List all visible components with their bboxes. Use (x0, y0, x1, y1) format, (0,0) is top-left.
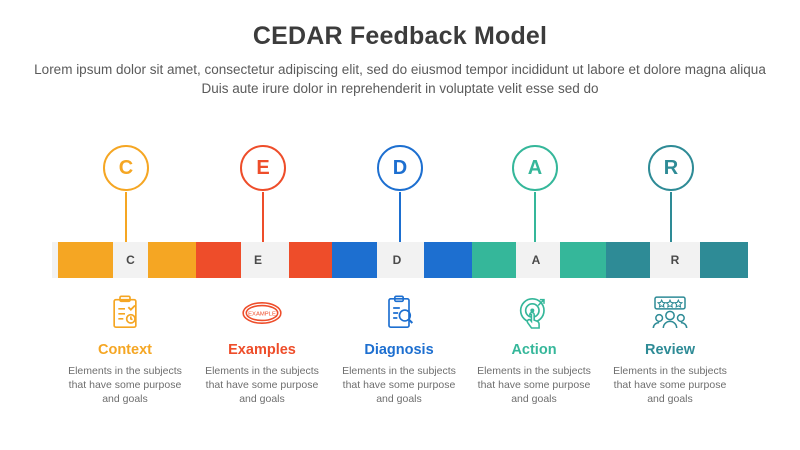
target-click-icon (461, 290, 607, 336)
example-stamp-icon: EXAMPLE (189, 290, 335, 336)
segment-letter-diagnosis: D (377, 242, 417, 278)
step-label-action: Action (461, 342, 607, 358)
segment-action-b (560, 242, 606, 278)
stem-context (125, 192, 127, 242)
step-column-diagnosis: Diagnosis Elements in the subjects that … (326, 290, 472, 406)
segment-review-b (700, 242, 748, 278)
segment-examples-a (196, 242, 241, 278)
node-circle-diagnosis[interactable]: D (377, 145, 423, 191)
step-description-action: Elements in the subjects that have some … (461, 364, 607, 406)
svg-text:EXAMPLE: EXAMPLE (248, 311, 276, 317)
segment-action-a (472, 242, 516, 278)
step-column-examples: EXAMPLE Examples Elements in the subject… (189, 290, 335, 406)
node-circle-action[interactable]: A (512, 145, 558, 191)
step-description-diagnosis: Elements in the subjects that have some … (326, 364, 472, 406)
stem-diagnosis (399, 192, 401, 242)
segment-diagnosis-a (332, 242, 377, 278)
step-description-review: Elements in the subjects that have some … (597, 364, 743, 406)
step-label-context: Context (52, 342, 198, 358)
segment-letter-examples: E (241, 242, 275, 278)
node-circle-context[interactable]: C (103, 145, 149, 191)
node-letter-action: A (528, 157, 542, 179)
segment-context-b (148, 242, 196, 278)
node-circle-examples[interactable]: E (240, 145, 286, 191)
stem-review (670, 192, 672, 242)
step-label-review: Review (597, 342, 743, 358)
node-circle-review[interactable]: R (648, 145, 694, 191)
step-description-examples: Elements in the subjects that have some … (189, 364, 335, 406)
segment-diagnosis-b (424, 242, 472, 278)
step-description-context: Elements in the subjects that have some … (52, 364, 198, 406)
segment-letter-review: R (650, 242, 700, 278)
segment-letter-action: A (516, 242, 556, 278)
page-title: CEDAR Feedback Model (0, 22, 800, 51)
node-letter-diagnosis: D (393, 157, 407, 179)
step-column-action: Action Elements in the subjects that hav… (461, 290, 607, 406)
page-subtitle: Lorem ipsum dolor sit amet, consectetur … (30, 60, 770, 98)
step-label-examples: Examples (189, 342, 335, 358)
node-letter-context: C (119, 157, 133, 179)
step-label-diagnosis: Diagnosis (326, 342, 472, 358)
segment-examples-b (289, 242, 332, 278)
stem-examples (262, 192, 264, 242)
stem-action (534, 192, 536, 242)
node-letter-review: R (664, 157, 678, 179)
infographic-slide: CEDAR Feedback Model Lorem ipsum dolor s… (0, 0, 800, 450)
step-column-review: Review Elements in the subjects that hav… (597, 290, 743, 406)
node-letter-examples: E (256, 157, 269, 179)
step-column-context: Context Elements in the subjects that ha… (52, 290, 198, 406)
segment-letter-context: C (113, 242, 148, 278)
timeline-stage: C E D A R C E D A (0, 120, 800, 450)
segment-review-a (606, 242, 650, 278)
stars-rating-group-icon (597, 290, 743, 336)
document-search-icon (326, 290, 472, 336)
clipboard-checklist-icon (52, 290, 198, 336)
segment-context-a (58, 242, 113, 278)
